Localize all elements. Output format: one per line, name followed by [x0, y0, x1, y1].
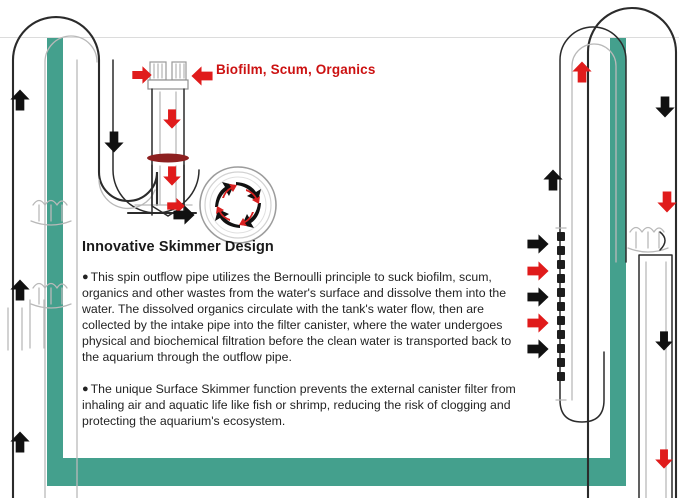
- paragraph-1-text: This spin outflow pipe utilizes the Bern…: [82, 270, 511, 364]
- callout-label-biofilm: Biofilm, Scum, Organics: [216, 62, 375, 77]
- arrow-intake-in-2: [526, 259, 550, 283]
- arrow-intake-in-3: [526, 285, 550, 309]
- intake-strainer-slots: [556, 228, 566, 400]
- arrow-return-down-bot: [653, 448, 675, 470]
- suction-bracket-left-top: [31, 201, 71, 226]
- arrow-intake-up-black: [541, 168, 565, 192]
- suction-bracket-left-bottom: [31, 284, 71, 309]
- arrow-intake-in-1: [526, 232, 550, 256]
- suction-bracket-right: [628, 228, 668, 253]
- description-paragraph-1: ●This spin outflow pipe utilizes the Ber…: [82, 270, 522, 366]
- arrow-skimmer-in-right: [190, 64, 214, 88]
- page-title: Innovative Skimmer Design: [82, 240, 522, 256]
- arrow-skimmer-in-left: [131, 64, 153, 86]
- spin-outflow-nozzle: [200, 167, 276, 243]
- arrow-nozzle-black: [172, 203, 196, 227]
- arrow-skimmer-down-2: [161, 165, 183, 187]
- paragraph-2-text: The unique Surface Skimmer function prev…: [82, 382, 516, 428]
- bullet-dot-icon: ●: [82, 383, 91, 395]
- description-paragraph-2: ●The unique Surface Skimmer function pre…: [82, 382, 522, 430]
- arrow-intake-in-5: [526, 337, 550, 361]
- arrow-outflow-up-top: [8, 88, 32, 112]
- arrow-outflow-up-mid: [8, 278, 32, 302]
- bullet-dot-icon: ●: [82, 271, 91, 283]
- description-panel: Innovative Skimmer Design ●This spin out…: [82, 240, 522, 446]
- arrow-intake-up-red: [570, 60, 594, 84]
- arrow-intake-in-4: [526, 311, 550, 335]
- arrow-return-down-low: [653, 330, 675, 352]
- arrow-return-down-black: [653, 95, 677, 119]
- arrow-outflow-down: [102, 130, 126, 154]
- arrow-outflow-up-low: [8, 430, 32, 454]
- arrow-skimmer-down-1: [161, 108, 183, 130]
- arrow-return-down-red: [655, 190, 679, 214]
- skimmer-diagram: .gl { fill:none; stroke:#2b2b2b; stroke-…: [0, 0, 679, 498]
